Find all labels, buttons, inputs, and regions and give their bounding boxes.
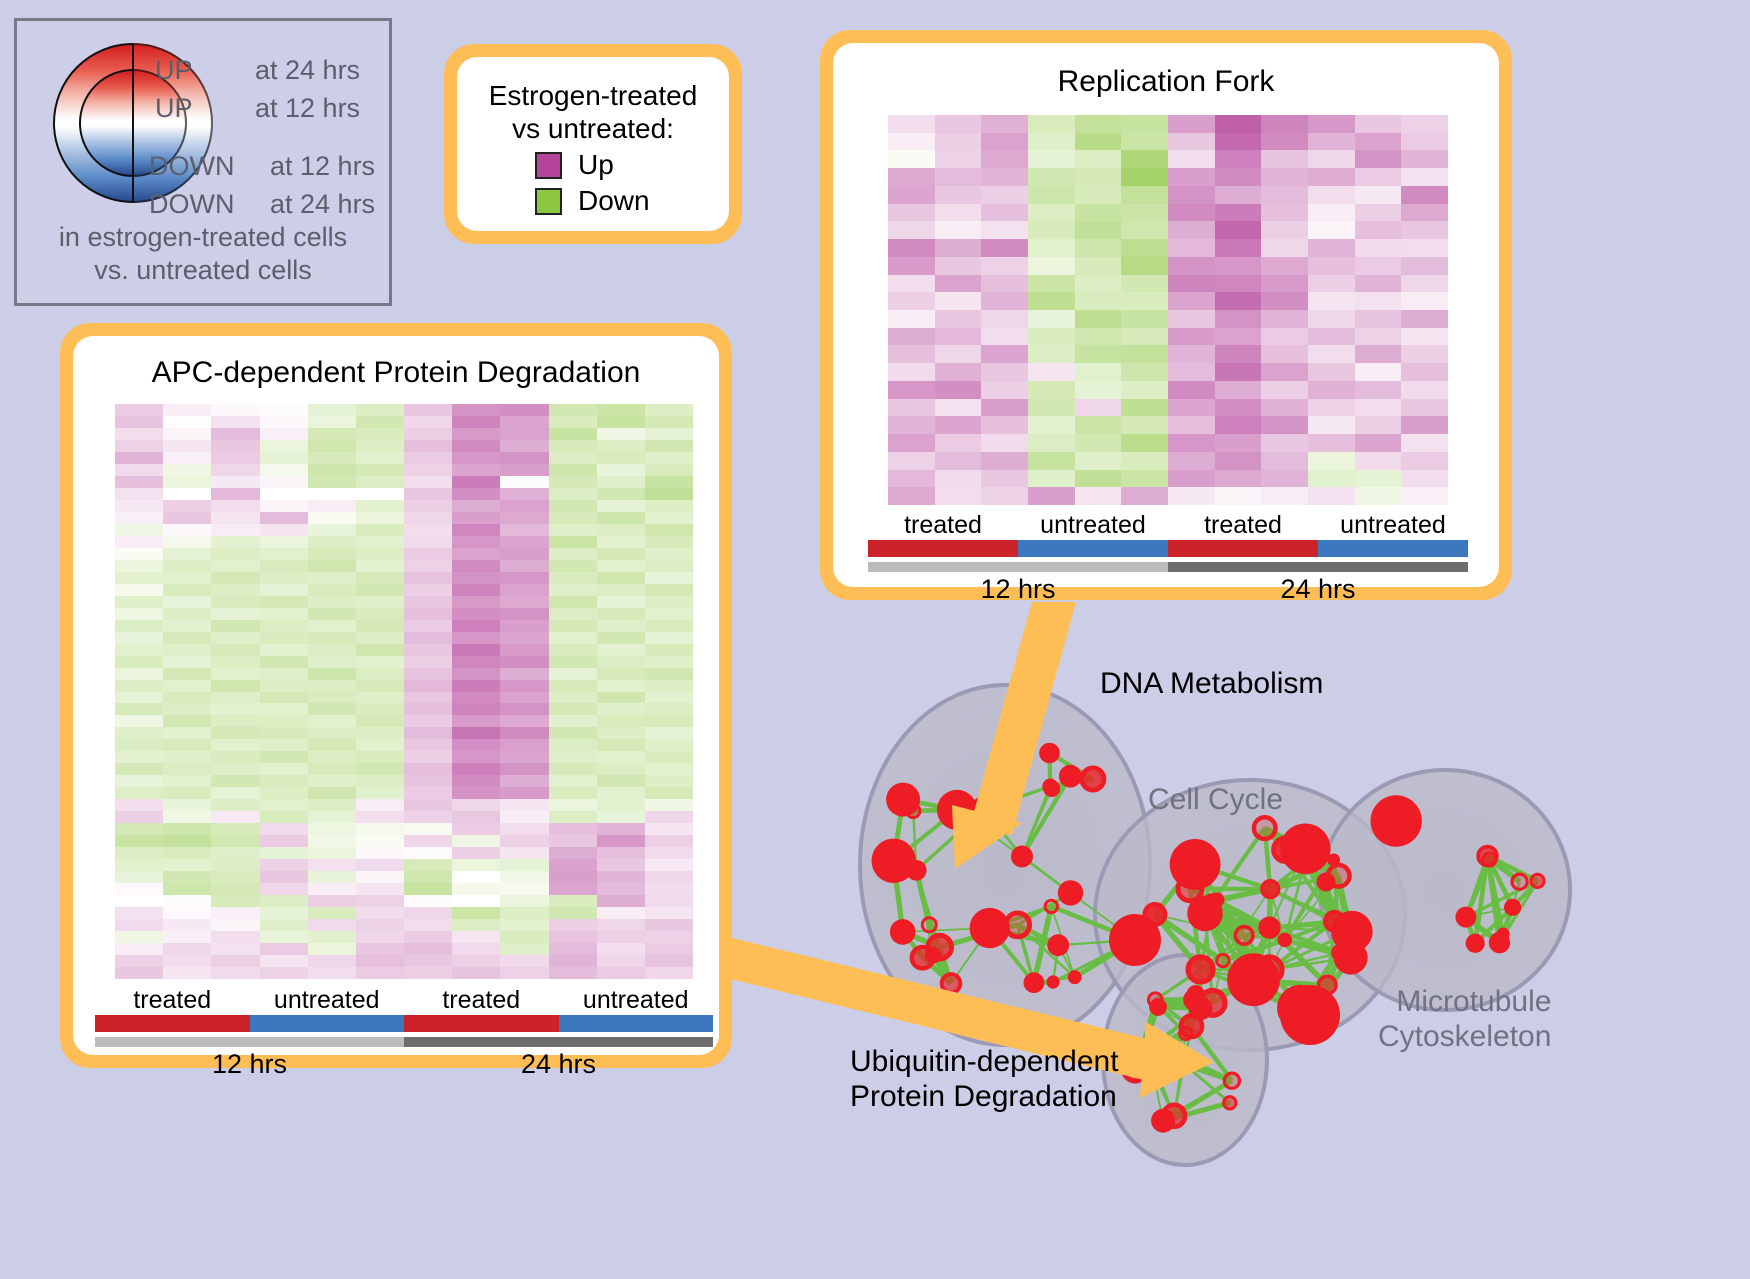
heatmap-cell: [211, 680, 259, 692]
network-node[interactable]: [1188, 957, 1213, 982]
heatmap-cell: [308, 476, 356, 488]
network-node[interactable]: [1047, 975, 1060, 988]
heatmap-cell: [211, 811, 259, 823]
heatmap-cell: [404, 883, 452, 895]
heatmap-cell: [260, 739, 308, 751]
heatmap-cell: [1401, 434, 1448, 452]
heatmap-cell: [115, 811, 163, 823]
heatmap-cell: [452, 476, 500, 488]
heatmap-cell: [211, 560, 259, 572]
network-node[interactable]: [1497, 928, 1510, 941]
heatmap-cell: [1261, 133, 1308, 151]
heatmap-cell: [1121, 434, 1168, 452]
heatmap-cell: [260, 895, 308, 907]
heatmap-cell: [356, 919, 404, 931]
heatmap-cell: [1121, 381, 1168, 399]
heatmap-cell: [452, 536, 500, 548]
network-node[interactable]: [1045, 900, 1057, 912]
heatmap-cell: [1261, 186, 1308, 204]
network-node[interactable]: [1234, 979, 1248, 993]
heatmap-cell: [211, 823, 259, 835]
heatmap-cell: [1308, 416, 1355, 434]
heatmap-cell: [452, 955, 500, 967]
heatmap-cell: [549, 811, 597, 823]
heatmap-cell: [1215, 186, 1262, 204]
updown-legend-title: Estrogen-treated vs untreated:: [457, 73, 729, 145]
heatmap-cell: [1168, 452, 1215, 470]
heatmap-cell: [597, 668, 645, 680]
heatmap-cell: [1215, 168, 1262, 186]
heatmap-cell: [211, 907, 259, 919]
heatmap-cell: [308, 608, 356, 620]
heatmap-cell: [888, 416, 935, 434]
heatmap-cell: [404, 895, 452, 907]
heatmap-cell: [308, 847, 356, 859]
network-node[interactable]: [922, 918, 936, 932]
heatmap-cell: [1121, 328, 1168, 346]
heatmap-cell: [981, 363, 1028, 381]
heatmap-cell: [1355, 115, 1402, 133]
network-node[interactable]: [1159, 1041, 1182, 1064]
heatmap-cell: [1075, 221, 1122, 239]
heatmap-cell: [356, 440, 404, 452]
heatmap-cell: [1028, 487, 1075, 505]
heatmap-cell: [1168, 345, 1215, 363]
axis-condition-bars: [868, 540, 1468, 557]
colorbar-footer-line2: vs. untreated cells: [17, 254, 389, 287]
heatmap-cell: [308, 883, 356, 895]
heatmap-cell: [452, 847, 500, 859]
heatmap-cell: [500, 584, 548, 596]
heatmap-cell: [549, 871, 597, 883]
heatmap-cell: [1121, 363, 1168, 381]
heatmap-cell: [500, 416, 548, 428]
network-node[interactable]: [1124, 1058, 1147, 1081]
network-node[interactable]: [1148, 993, 1162, 1007]
heatmap-cell: [1075, 204, 1122, 222]
heatmap-cell: [115, 524, 163, 536]
heatmap-cell: [211, 440, 259, 452]
heatmap-cell: [1121, 470, 1168, 488]
heatmap-cell: [308, 727, 356, 739]
heatmap-cell: [163, 847, 211, 859]
network-node[interactable]: [1181, 1016, 1202, 1037]
heatmap-cell: [981, 328, 1028, 346]
heatmap-cell: [260, 727, 308, 739]
heatmap-cell: [935, 416, 982, 434]
heatmap-cell: [404, 859, 452, 871]
heatmap-cell: [1401, 452, 1448, 470]
axis-condition-label: untreated: [250, 986, 405, 1015]
heatmap-cell: [115, 488, 163, 500]
heatmap-cell: [500, 560, 548, 572]
heatmap-cell: [597, 512, 645, 524]
heatmap-cell: [645, 404, 693, 416]
heatmap-cell: [356, 799, 404, 811]
heatmap-cell: [115, 763, 163, 775]
axis-time-labels: 12 hrs24 hrs: [95, 1049, 713, 1080]
heatmap-cell: [549, 955, 597, 967]
heatmap-cell: [308, 871, 356, 883]
network-node[interactable]: [1337, 915, 1353, 931]
heatmap-cell: [1121, 399, 1168, 417]
apc-title: APC-dependent Protein Degradation: [73, 356, 719, 390]
heatmap-cell: [1261, 452, 1308, 470]
network-node[interactable]: [1280, 985, 1340, 1045]
heatmap-cell: [404, 440, 452, 452]
heatmap-cell: [356, 524, 404, 536]
heatmap-cell: [1168, 328, 1215, 346]
network-node[interactable]: [1466, 934, 1485, 953]
heatmap-cell: [211, 500, 259, 512]
heatmap-cell: [260, 596, 308, 608]
heatmap-cell: [211, 428, 259, 440]
heatmap-cell: [404, 500, 452, 512]
network-node[interactable]: [1224, 1097, 1236, 1109]
heatmap-cell: [1308, 470, 1355, 488]
network-node[interactable]: [1006, 913, 1030, 937]
heatmap-cell: [1215, 452, 1262, 470]
heatmap-cell: [211, 835, 259, 847]
heatmap-cell: [115, 620, 163, 632]
heatmap-cell: [1028, 186, 1075, 204]
heatmap-cell: [1121, 310, 1168, 328]
heatmap-cell: [597, 799, 645, 811]
heatmap-cell: [500, 715, 548, 727]
heatmap-cell: [549, 608, 597, 620]
network-node[interactable]: [1504, 899, 1521, 916]
heatmap-cell: [452, 560, 500, 572]
heatmap-cell: [452, 584, 500, 596]
network-node[interactable]: [1254, 817, 1276, 839]
heatmap-cell: [163, 464, 211, 476]
heatmap-cell: [211, 464, 259, 476]
heatmap-cell: [1215, 345, 1262, 363]
network-node[interactable]: [1258, 917, 1280, 939]
network-node[interactable]: [1178, 877, 1202, 901]
network-node[interactable]: [1262, 881, 1279, 898]
heatmap-cell: [308, 943, 356, 955]
network-node[interactable]: [1109, 914, 1161, 966]
network-node[interactable]: [1224, 1073, 1239, 1088]
heatmap-cell: [1355, 204, 1402, 222]
heatmap-cell: [211, 763, 259, 775]
heatmap-cell: [597, 452, 645, 464]
network-node[interactable]: [1217, 954, 1229, 966]
heatmap-cell: [1075, 115, 1122, 133]
heatmap-cell: [1308, 257, 1355, 275]
heatmap-cell: [1308, 452, 1355, 470]
network-node[interactable]: [1187, 985, 1205, 1003]
heatmap-cell: [115, 560, 163, 572]
heatmap-cell: [1215, 363, 1262, 381]
heatmap-cell: [452, 644, 500, 656]
heatmap-cell: [308, 440, 356, 452]
heatmap-cell: [260, 715, 308, 727]
heatmap-cell: [356, 680, 404, 692]
heatmap-cell: [404, 943, 452, 955]
network-node[interactable]: [890, 919, 916, 945]
heatmap-cell: [1308, 363, 1355, 381]
heatmap-cell: [308, 955, 356, 967]
legend-swatch-up: [535, 152, 562, 179]
network-node[interactable]: [1138, 1046, 1151, 1059]
heatmap-cell: [1355, 133, 1402, 151]
network-node[interactable]: [1058, 880, 1083, 905]
network-node[interactable]: [1278, 933, 1293, 948]
heatmap-cell: [1075, 257, 1122, 275]
heatmap-cell: [1121, 239, 1168, 257]
network-node[interactable]: [1531, 874, 1544, 887]
heatmap-cell: [260, 452, 308, 464]
colorbar-legend-box: UP at 24 hrs UP at 12 hrs DOWN at 12 hrs…: [14, 18, 392, 306]
heatmap-cell: [597, 692, 645, 704]
network-node[interactable]: [1298, 855, 1313, 870]
heatmap-cell: [163, 727, 211, 739]
network-node[interactable]: [1210, 892, 1225, 907]
network-node[interactable]: [1257, 957, 1282, 982]
heatmap-cell: [163, 476, 211, 488]
heatmap-cell: [260, 476, 308, 488]
network-node[interactable]: [1047, 934, 1069, 956]
heatmap-cell: [356, 703, 404, 715]
heatmap-cell: [404, 751, 452, 763]
network-node[interactable]: [1455, 907, 1476, 928]
heatmap-cell: [935, 487, 982, 505]
heatmap-cell: [1121, 115, 1168, 133]
heatmap-cell: [356, 739, 404, 751]
heatmap-cell: [404, 668, 452, 680]
heatmap-cell: [163, 907, 211, 919]
network-node[interactable]: [1082, 768, 1104, 790]
figure-root: UP at 24 hrs UP at 12 hrs DOWN at 12 hrs…: [0, 0, 1750, 1279]
heatmap-cell: [597, 428, 645, 440]
heatmap-cell: [1168, 470, 1215, 488]
axis-condition-label: treated: [868, 511, 1018, 540]
heatmap-cell: [1308, 150, 1355, 168]
network-node[interactable]: [1235, 927, 1253, 945]
network-node[interactable]: [912, 947, 933, 968]
heatmap-cell: [260, 883, 308, 895]
heatmap-cell: [1075, 133, 1122, 151]
heatmap-cell: [356, 644, 404, 656]
label-cell-cycle: Cell Cycle: [1148, 782, 1283, 817]
heatmap-cell: [163, 668, 211, 680]
network-node[interactable]: [906, 860, 927, 881]
heatmap-cell: [1215, 487, 1262, 505]
heatmap-cell: [1121, 416, 1168, 434]
heatmap-cell: [935, 345, 982, 363]
heatmap-cell: [500, 811, 548, 823]
heatmap-cell: [115, 751, 163, 763]
heatmap-cell: [645, 428, 693, 440]
network-node[interactable]: [1274, 838, 1297, 861]
heatmap-cell: [356, 859, 404, 871]
heatmap-cell: [597, 488, 645, 500]
heatmap-cell: [356, 763, 404, 775]
heatmap-cell: [981, 399, 1028, 417]
heatmap-cell: [115, 943, 163, 955]
heatmap-cell: [1168, 363, 1215, 381]
heatmap-cell: [115, 440, 163, 452]
heatmap-cell: [597, 560, 645, 572]
heatmap-cell: [211, 739, 259, 751]
updown-legend-panel: Estrogen-treated vs untreated: Up Down: [444, 44, 742, 244]
heatmap-cell: [452, 823, 500, 835]
heatmap-cell: [1308, 275, 1355, 293]
heatmap-cell: [981, 221, 1028, 239]
heatmap-cell: [1215, 115, 1262, 133]
heatmap-cell: [1028, 168, 1075, 186]
network-node[interactable]: [1317, 873, 1336, 892]
heatmap-cell: [888, 168, 935, 186]
heatmap-cell: [597, 596, 645, 608]
heatmap-cell: [452, 763, 500, 775]
heatmap-cell: [1075, 239, 1122, 257]
heatmap-cell: [115, 871, 163, 883]
heatmap-cell: [260, 416, 308, 428]
heatmap-cell: [500, 895, 548, 907]
heatmap-cell: [1028, 470, 1075, 488]
network-node[interactable]: [1011, 846, 1033, 868]
heatmap-cell: [1261, 221, 1308, 239]
heatmap-cell: [211, 644, 259, 656]
heatmap-cell: [211, 787, 259, 799]
heatmap-cell: [1121, 221, 1168, 239]
heatmap-cell: [1028, 310, 1075, 328]
heatmap-cell: [163, 560, 211, 572]
heatmap-cell: [452, 931, 500, 943]
heatmap-cell: [645, 584, 693, 596]
heatmap-cell: [645, 967, 693, 979]
heatmap-cell: [597, 883, 645, 895]
heatmap-cell: [404, 763, 452, 775]
heatmap-cell: [1168, 204, 1215, 222]
network-node[interactable]: [1512, 874, 1527, 889]
heatmap-cell: [500, 680, 548, 692]
heatmap-cell: [1075, 452, 1122, 470]
network-node[interactable]: [1024, 972, 1045, 993]
heatmap-cell: [1401, 168, 1448, 186]
heatmap-cell: [1261, 363, 1308, 381]
heatmap-cell: [1308, 168, 1355, 186]
heatmap-cell: [115, 727, 163, 739]
heatmap-cell: [549, 919, 597, 931]
heatmap-cell: [115, 775, 163, 787]
heatmap-cell: [645, 703, 693, 715]
heatmap-cell: [500, 883, 548, 895]
heatmap-cell: [1121, 345, 1168, 363]
heatmap-cell: [308, 560, 356, 572]
heatmap-cell: [260, 428, 308, 440]
heatmap-cell: [260, 488, 308, 500]
heatmap-cell: [404, 715, 452, 727]
heatmap-cell: [645, 560, 693, 572]
heatmap-cell: [260, 799, 308, 811]
heatmap-cell: [597, 811, 645, 823]
network-node[interactable]: [1151, 1109, 1175, 1133]
axis-condition-bar: [559, 1015, 714, 1032]
heatmap-cell: [1308, 381, 1355, 399]
heatmap-cell: [452, 739, 500, 751]
heatmap-cell: [260, 919, 308, 931]
heatmap-cell: [597, 680, 645, 692]
network-node[interactable]: [942, 974, 961, 993]
heatmap-cell: [645, 452, 693, 464]
heatmap-cell: [356, 608, 404, 620]
heatmap-cell: [935, 221, 982, 239]
axis-time-label: 24 hrs: [404, 1049, 713, 1080]
heatmap-cell: [163, 943, 211, 955]
heatmap-cell: [115, 548, 163, 560]
heatmap-cell: [163, 500, 211, 512]
heatmap-cell: [981, 345, 1028, 363]
heatmap-cell: [1261, 239, 1308, 257]
heatmap-cell: [549, 799, 597, 811]
heatmap-cell: [308, 656, 356, 668]
heatmap-cell: [888, 186, 935, 204]
heatmap-cell: [1168, 381, 1215, 399]
heatmap-cell: [1215, 381, 1262, 399]
heatmap-cell: [1355, 345, 1402, 363]
heatmap-cell: [1215, 470, 1262, 488]
heatmap-cell: [549, 428, 597, 440]
heatmap-cell: [1215, 133, 1262, 151]
network-node[interactable]: [973, 798, 995, 820]
heatmap-cell: [1075, 381, 1122, 399]
heatmap-cell: [645, 823, 693, 835]
network-node[interactable]: [1478, 847, 1497, 866]
heatmap-cell: [1308, 345, 1355, 363]
heatmap-cell: [1215, 257, 1262, 275]
network-node[interactable]: [1371, 795, 1422, 846]
heatmap-cell: [1401, 257, 1448, 275]
heatmap-cell: [1215, 292, 1262, 310]
heatmap-cell: [308, 859, 356, 871]
heatmap-cell: [1401, 345, 1448, 363]
network-node[interactable]: [1059, 765, 1082, 788]
network-node[interactable]: [1042, 779, 1058, 795]
heatmap-cell: [549, 632, 597, 644]
heatmap-cell: [115, 512, 163, 524]
network-node[interactable]: [907, 804, 920, 817]
network-node[interactable]: [1039, 743, 1060, 764]
heatmap-cell: [597, 859, 645, 871]
heatmap-cell: [260, 560, 308, 572]
heatmap-cell: [404, 416, 452, 428]
heatmap-cell: [1355, 275, 1402, 293]
heatmap-cell: [308, 668, 356, 680]
heatmap-cell: [500, 464, 548, 476]
heatmap-cell: [356, 404, 404, 416]
heatmap-cell: [645, 715, 693, 727]
network-node[interactable]: [1333, 946, 1347, 960]
heatmap-cell: [1261, 434, 1308, 452]
heatmap-cell: [356, 596, 404, 608]
heatmap-cell: [549, 440, 597, 452]
heatmap-cell: [1401, 239, 1448, 257]
replication-fork-inner: Replication Fork treateduntreatedtreated…: [833, 43, 1499, 587]
heatmap-cell: [1168, 275, 1215, 293]
heatmap-cell: [500, 739, 548, 751]
heatmap-cell: [549, 548, 597, 560]
heatmap-cell: [356, 775, 404, 787]
heatmap-cell: [260, 823, 308, 835]
heatmap-cell: [1355, 487, 1402, 505]
heatmap-cell: [645, 787, 693, 799]
heatmap-cell: [115, 668, 163, 680]
network-node[interactable]: [1068, 970, 1082, 984]
